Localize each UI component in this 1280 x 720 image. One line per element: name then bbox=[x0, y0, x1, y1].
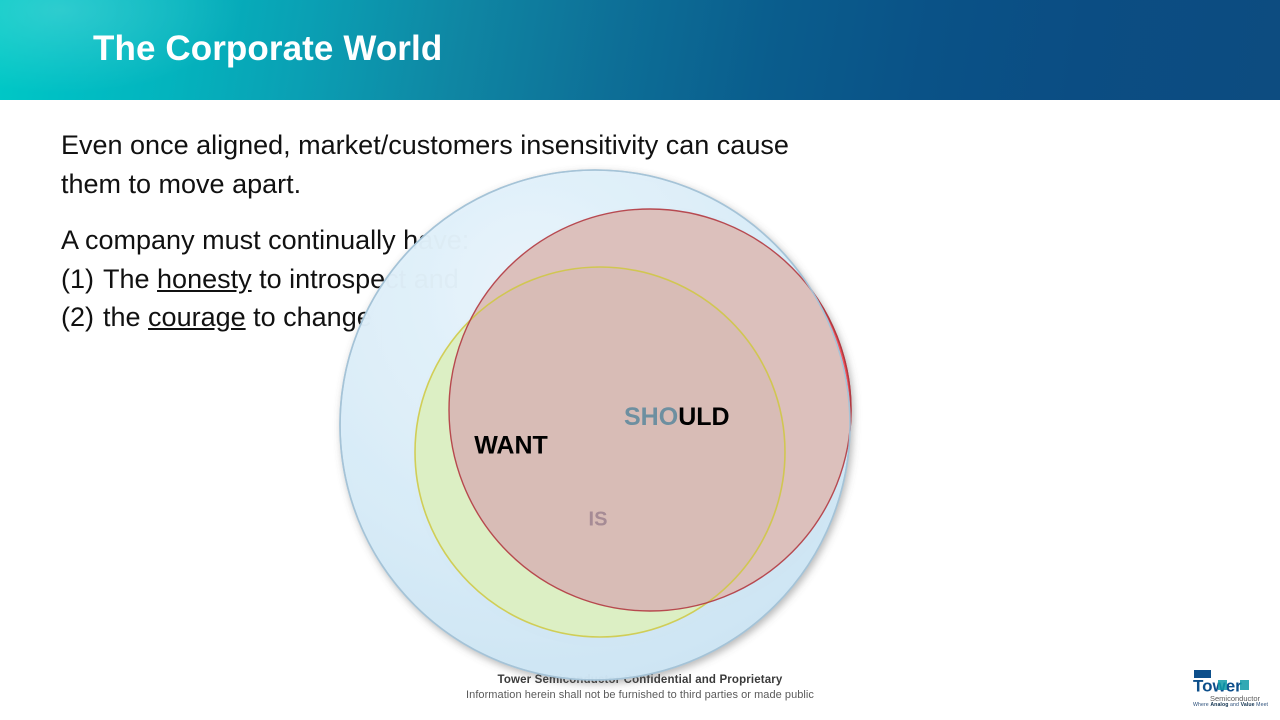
venn-label-is: IS bbox=[589, 508, 608, 530]
slide-canvas: The Corporate World Even once aligned, m… bbox=[0, 0, 1280, 720]
venn-label-want: WANT bbox=[474, 432, 548, 460]
venn-label-should: SHOULD bbox=[624, 403, 730, 431]
venn-label-should-part-a: SHO bbox=[624, 403, 678, 431]
venn-diagram: WANT SHOULD IS bbox=[0, 0, 1280, 720]
venn-label-should-part-b: ULD bbox=[678, 403, 729, 431]
